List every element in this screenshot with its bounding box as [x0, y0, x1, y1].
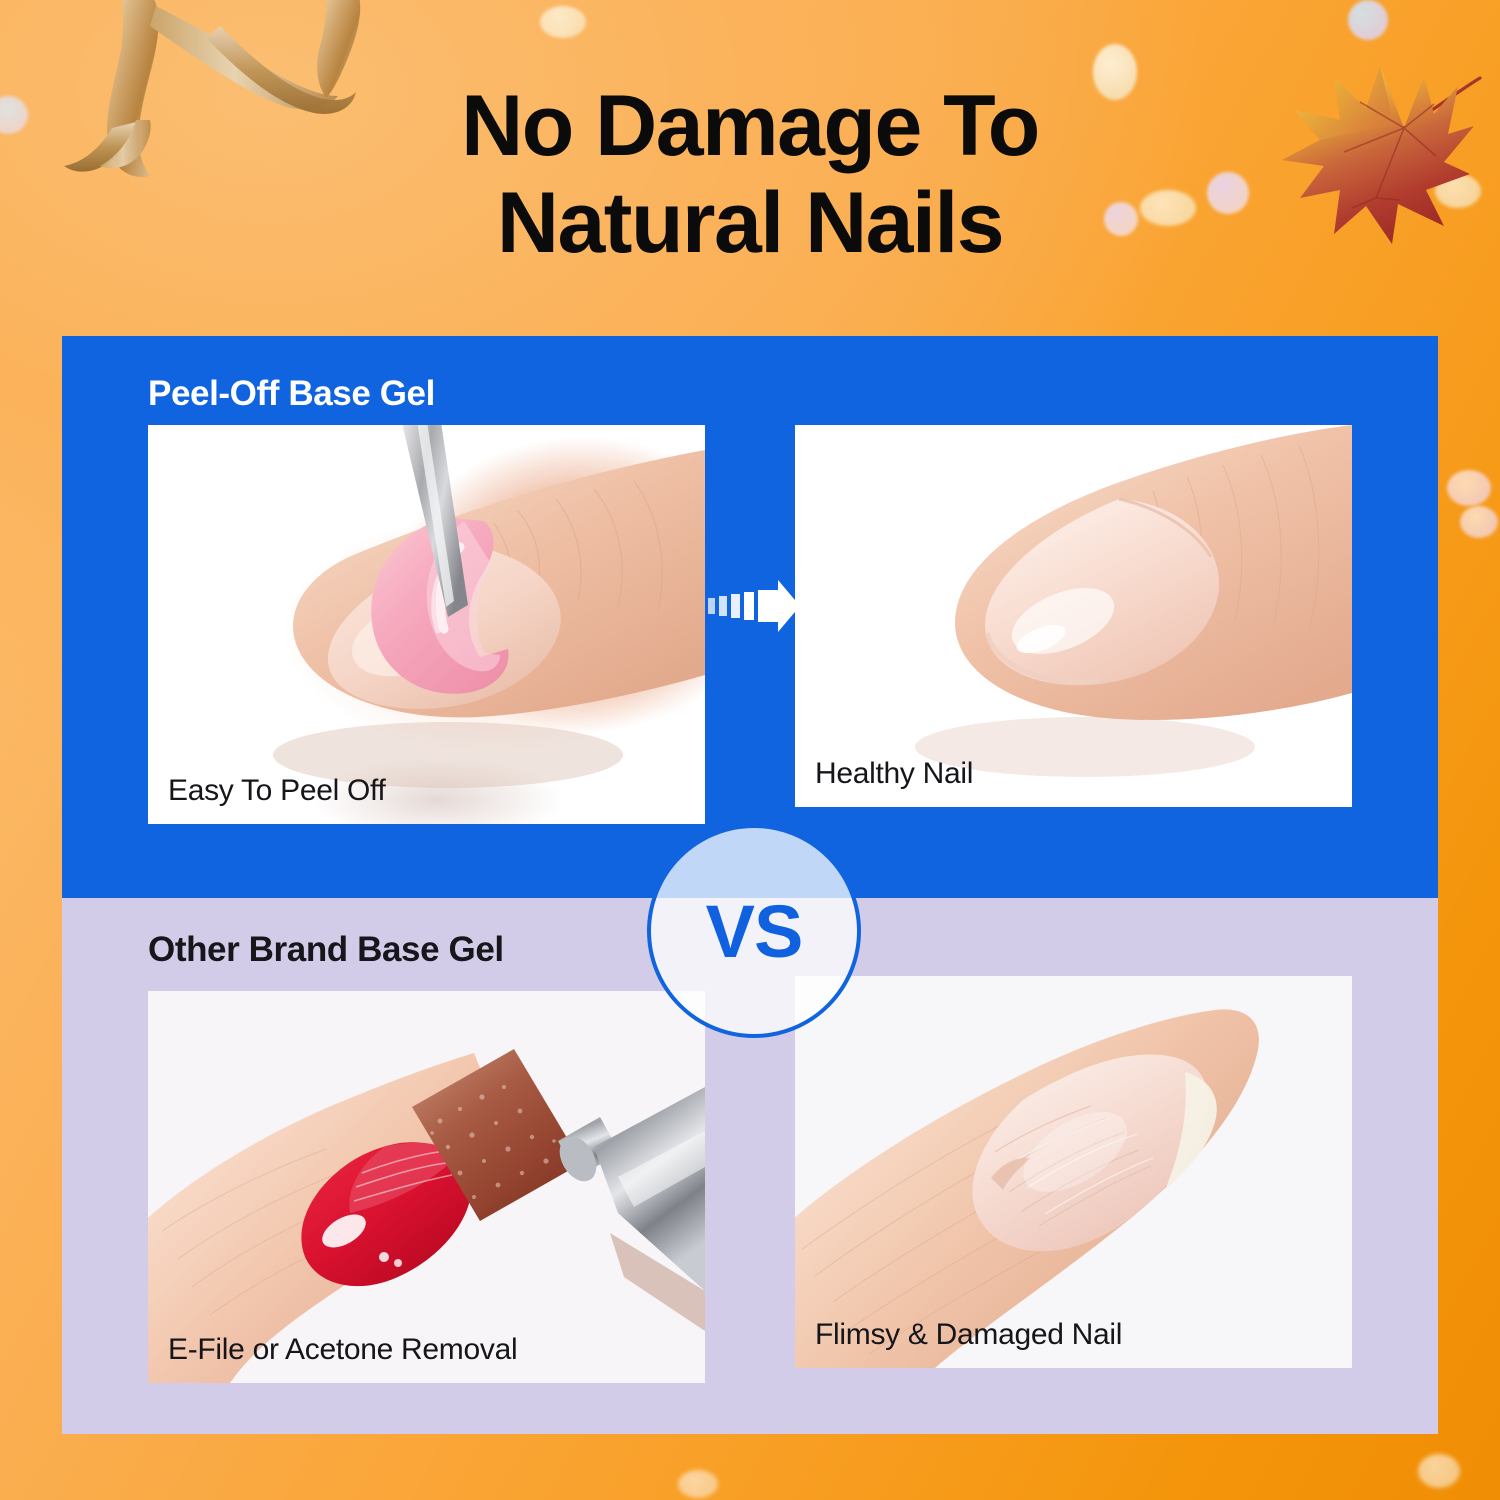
panel-title-top: Peel-Off Base Gel [148, 374, 435, 414]
caption-damaged-nail: Flimsy & Damaged Nail [815, 1318, 1122, 1352]
panel-title-bottom: Other Brand Base Gel [148, 930, 504, 970]
headline-line-1: No Damage To [0, 78, 1500, 175]
headline-line-2: Natural Nails [0, 175, 1500, 272]
bokeh-dot [1418, 1454, 1460, 1488]
promo-poster: No Damage To Natural Nails Peel-Off Base… [0, 0, 1500, 1500]
caption-efile-removal: E-File or Acetone Removal [168, 1333, 517, 1367]
bokeh-dot [678, 1470, 718, 1498]
photo-peeling-gel [148, 425, 705, 824]
photo-healthy-nail [795, 425, 1352, 807]
bokeh-dot [1348, 0, 1388, 40]
photo-tile-healthy-nail: Healthy Nail [795, 425, 1352, 807]
photo-tile-easy-to-peel-off: Easy To Peel Off [148, 425, 705, 824]
bokeh-dot [540, 6, 586, 38]
bokeh-dot [1447, 470, 1491, 506]
photo-efile-drill [148, 991, 705, 1383]
caption-healthy-nail: Healthy Nail [815, 757, 973, 791]
comparison-card: Peel-Off Base Gel [62, 336, 1438, 1434]
page-title: No Damage To Natural Nails [0, 78, 1500, 272]
photo-tile-damaged-nail: Flimsy & Damaged Nail [795, 976, 1352, 1368]
vs-badge: VS [647, 824, 861, 1038]
arrow-right-top [708, 580, 800, 632]
vs-label: VS [706, 889, 803, 974]
photo-tile-efile-removal: E-File or Acetone Removal [148, 991, 705, 1383]
bokeh-dot [1460, 506, 1498, 538]
photo-damaged-nail [795, 976, 1352, 1368]
panel-peel-off-base-gel: Peel-Off Base Gel [62, 336, 1438, 898]
caption-easy-to-peel-off: Easy To Peel Off [168, 774, 386, 808]
